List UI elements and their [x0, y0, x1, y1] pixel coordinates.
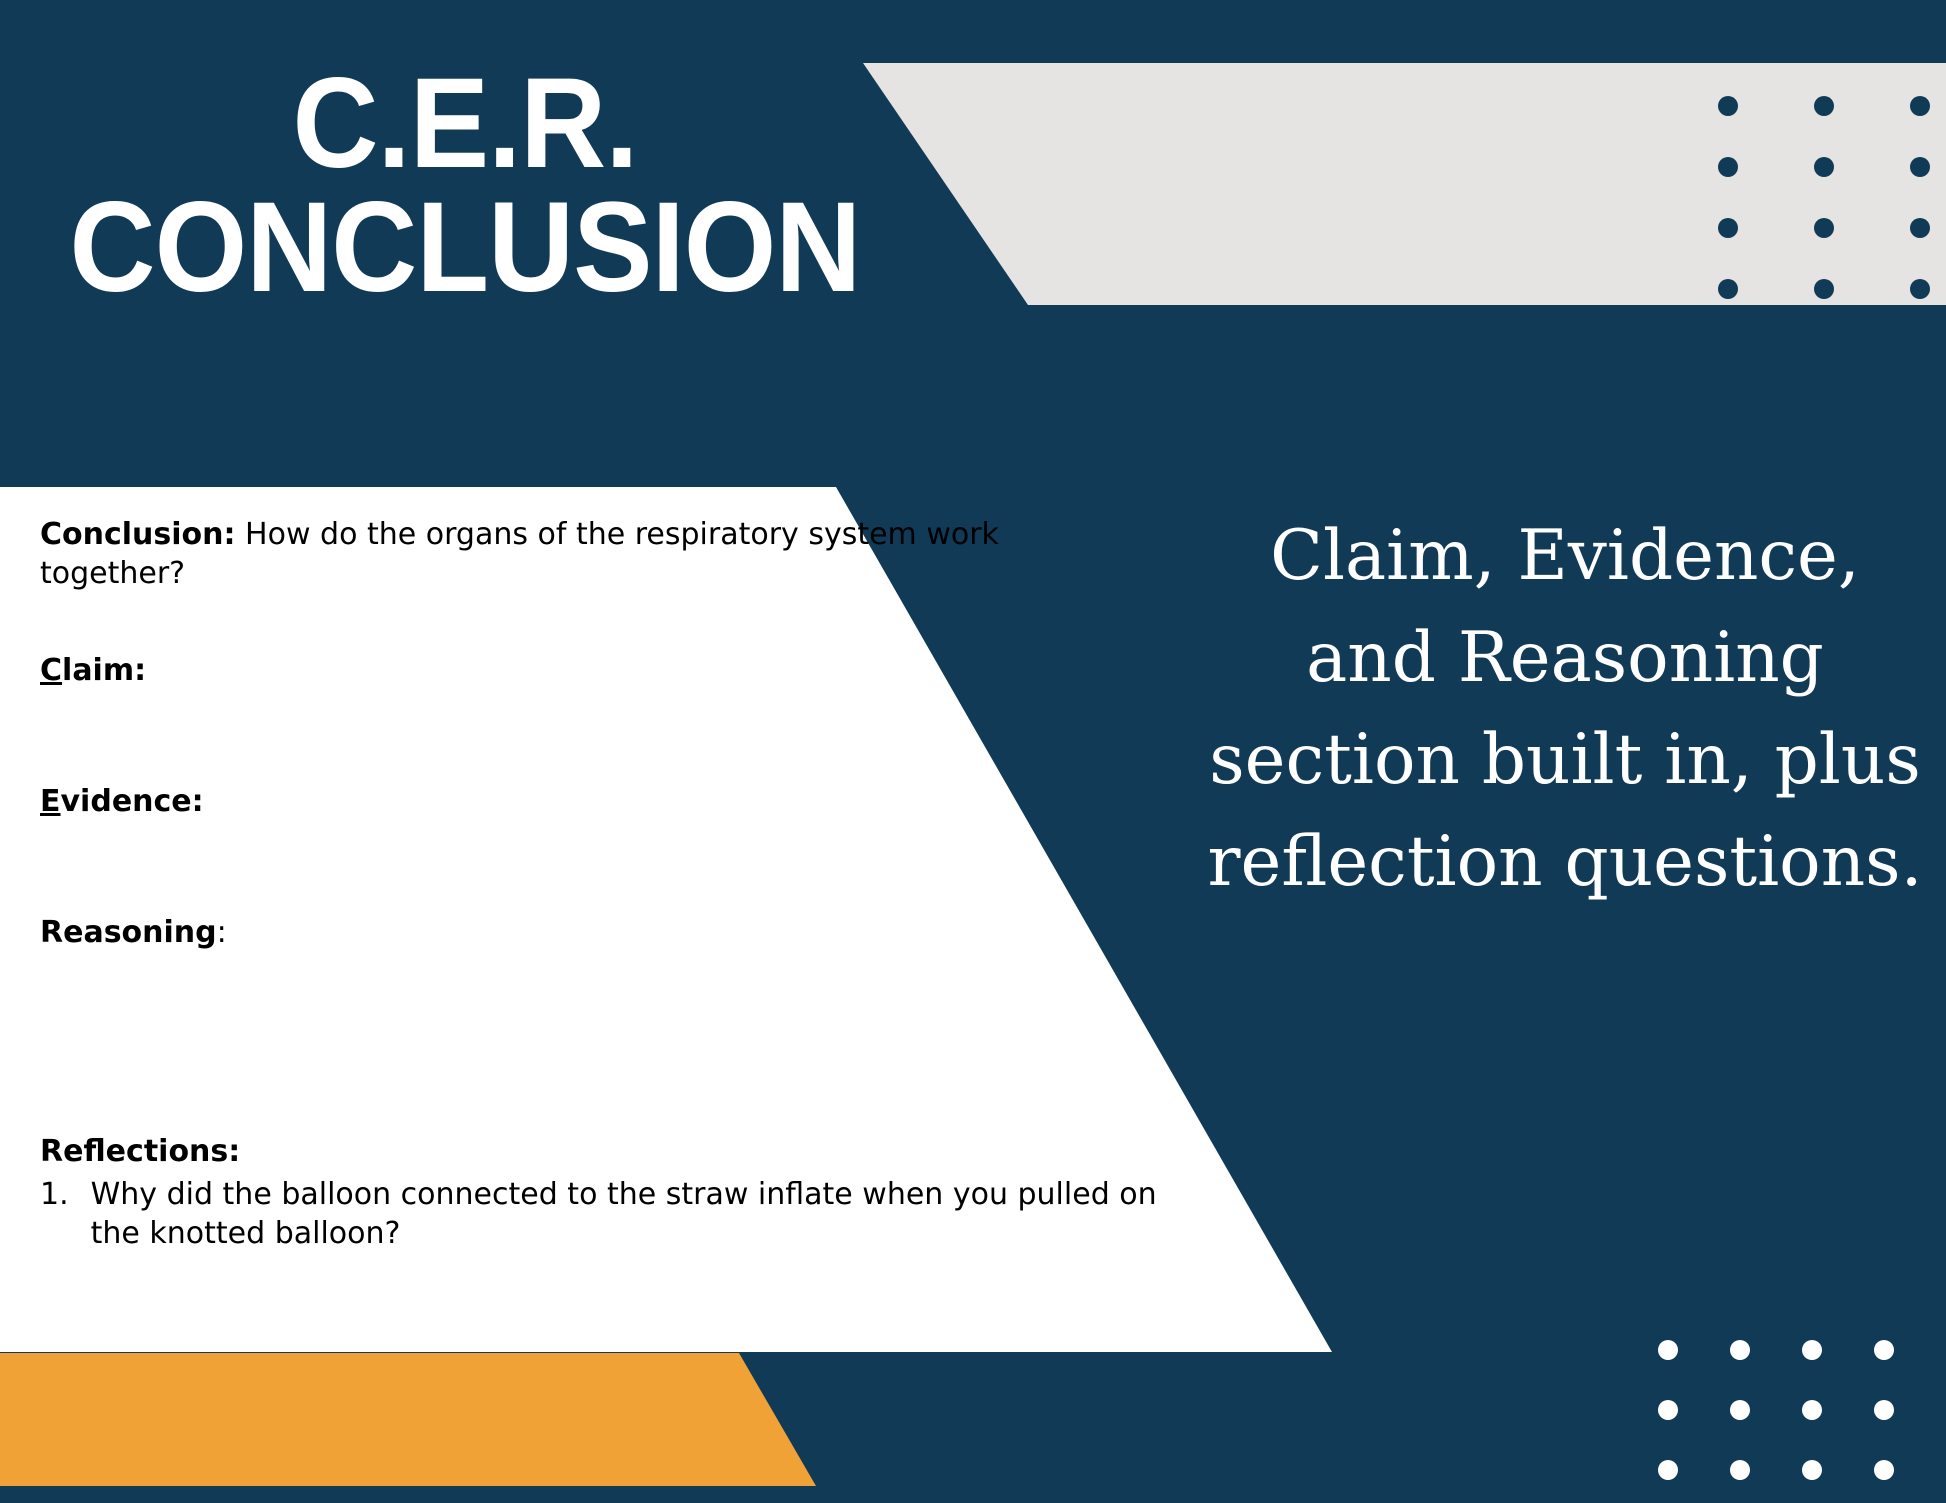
- dot-icon: [1874, 1460, 1894, 1480]
- dot-icon: [1910, 279, 1930, 299]
- reasoning-label: Reasoning:: [40, 913, 1330, 952]
- dot-icon: [1718, 157, 1738, 177]
- dot-icon: [1910, 218, 1930, 238]
- dot-icon: [1802, 1340, 1822, 1360]
- reasoning-word: Reasoning: [40, 915, 217, 950]
- list-item-number: 1.: [40, 1175, 69, 1253]
- slide-canvas: C.E.R. CONCLUSION Conclusion: How do the: [0, 0, 1946, 1503]
- conclusion-prompt: Conclusion: How do the organs of the res…: [40, 515, 1040, 593]
- dot-icon: [1814, 157, 1834, 177]
- evidence-label: Evidence:: [40, 782, 1330, 821]
- dot-icon: [1874, 1400, 1894, 1420]
- dot-icon: [1730, 1340, 1750, 1360]
- dot-icon: [1658, 1460, 1678, 1480]
- dot-icon: [1718, 218, 1738, 238]
- dot-grid-white-icon: [1658, 1340, 1946, 1503]
- dot-icon: [1814, 96, 1834, 116]
- dot-icon: [1910, 157, 1930, 177]
- dot-icon: [1802, 1460, 1822, 1480]
- conclusion-label: Conclusion:: [40, 517, 236, 552]
- title-line-1: C.E.R.: [33, 62, 898, 186]
- title-line-2: CONCLUSION: [33, 186, 898, 310]
- dot-icon: [1718, 279, 1738, 299]
- worksheet-document: Conclusion: How do the organs of the res…: [40, 515, 1330, 1253]
- dot-icon: [1910, 96, 1930, 116]
- dot-grid-navy-icon: [1718, 96, 1946, 340]
- dot-icon: [1718, 96, 1738, 116]
- orange-accent-banner: [0, 1353, 820, 1486]
- slide-caption: Claim, Evidence, and Reasoning section b…: [1195, 505, 1935, 913]
- list-item-question: Why did the balloon connected to the str…: [91, 1175, 1161, 1253]
- list-item: 1. Why did the balloon connected to the …: [40, 1175, 1330, 1253]
- reflections-label: Reflections:: [40, 1132, 1330, 1171]
- dot-icon: [1814, 279, 1834, 299]
- dot-icon: [1658, 1400, 1678, 1420]
- dot-icon: [1814, 218, 1834, 238]
- dot-icon: [1730, 1460, 1750, 1480]
- page-title: C.E.R. CONCLUSION: [0, 62, 930, 310]
- dot-icon: [1730, 1400, 1750, 1420]
- reasoning-colon: :: [217, 915, 227, 950]
- reflections-list: 1. Why did the balloon connected to the …: [40, 1175, 1330, 1253]
- dot-icon: [1658, 1340, 1678, 1360]
- claim-label: Claim:: [40, 651, 1330, 690]
- dot-icon: [1874, 1340, 1894, 1360]
- dot-icon: [1802, 1400, 1822, 1420]
